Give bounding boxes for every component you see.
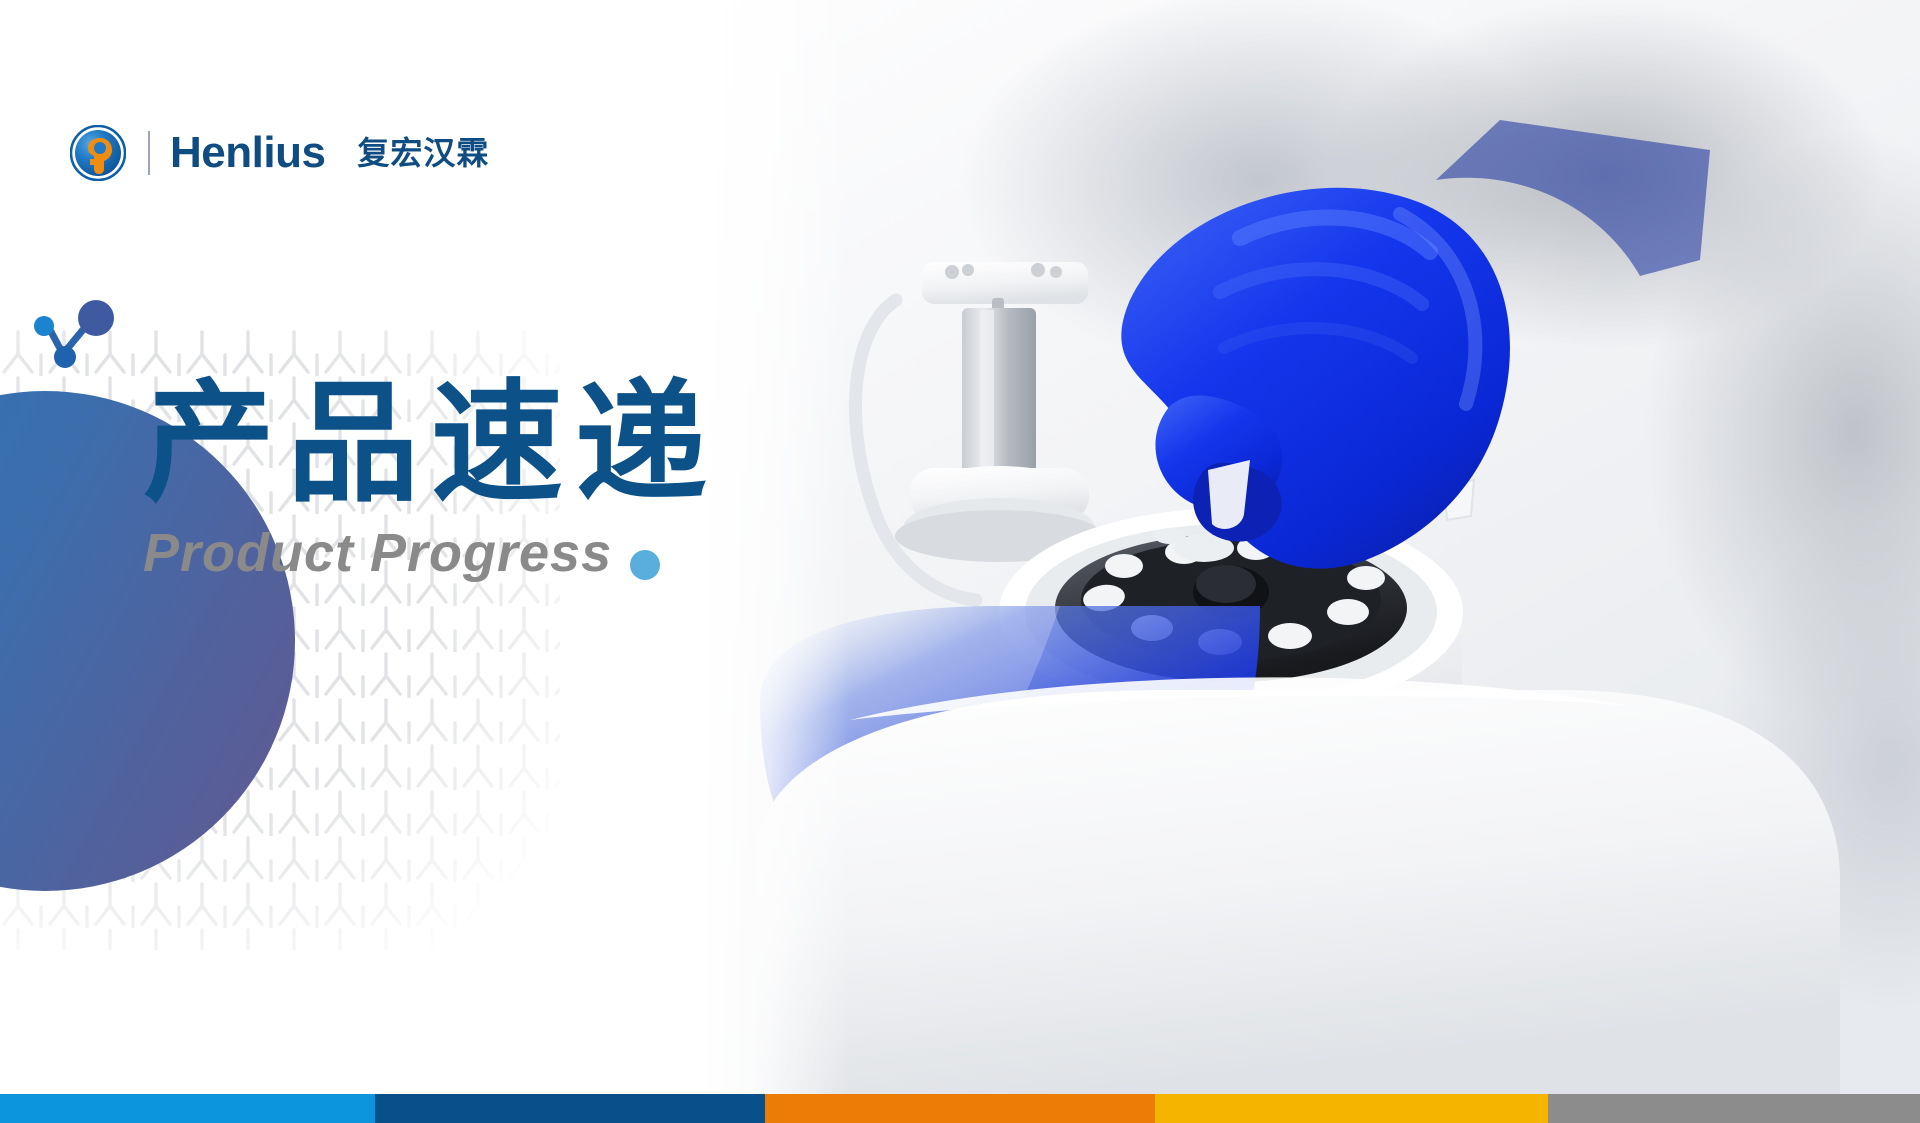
laboratory-centrifuge-photo xyxy=(700,0,1920,1094)
molecule-small-icon xyxy=(28,300,138,400)
page-title: 产品速递 xyxy=(143,378,719,510)
logo-divider xyxy=(148,131,150,175)
logo-english-name: Henlius xyxy=(170,131,325,175)
logo-chinese-name: 复宏汉霖 xyxy=(357,137,489,169)
title-slide: Henlius 复宏汉霖 产品速递 Product Progress xyxy=(0,0,1920,1123)
page-subtitle: Product Progress xyxy=(143,526,719,580)
segment-gray xyxy=(1548,1094,1920,1123)
henlius-logo-mark-icon xyxy=(70,125,126,181)
headline-block: 产品速递 Product Progress xyxy=(143,378,719,580)
brand-logo[interactable]: Henlius 复宏汉霖 xyxy=(70,124,489,182)
bottom-color-bar xyxy=(0,1094,1920,1123)
segment-orange xyxy=(765,1094,1155,1123)
segment-amber xyxy=(1155,1094,1548,1123)
segment-light-blue xyxy=(0,1094,375,1123)
segment-dark-blue xyxy=(375,1094,765,1123)
